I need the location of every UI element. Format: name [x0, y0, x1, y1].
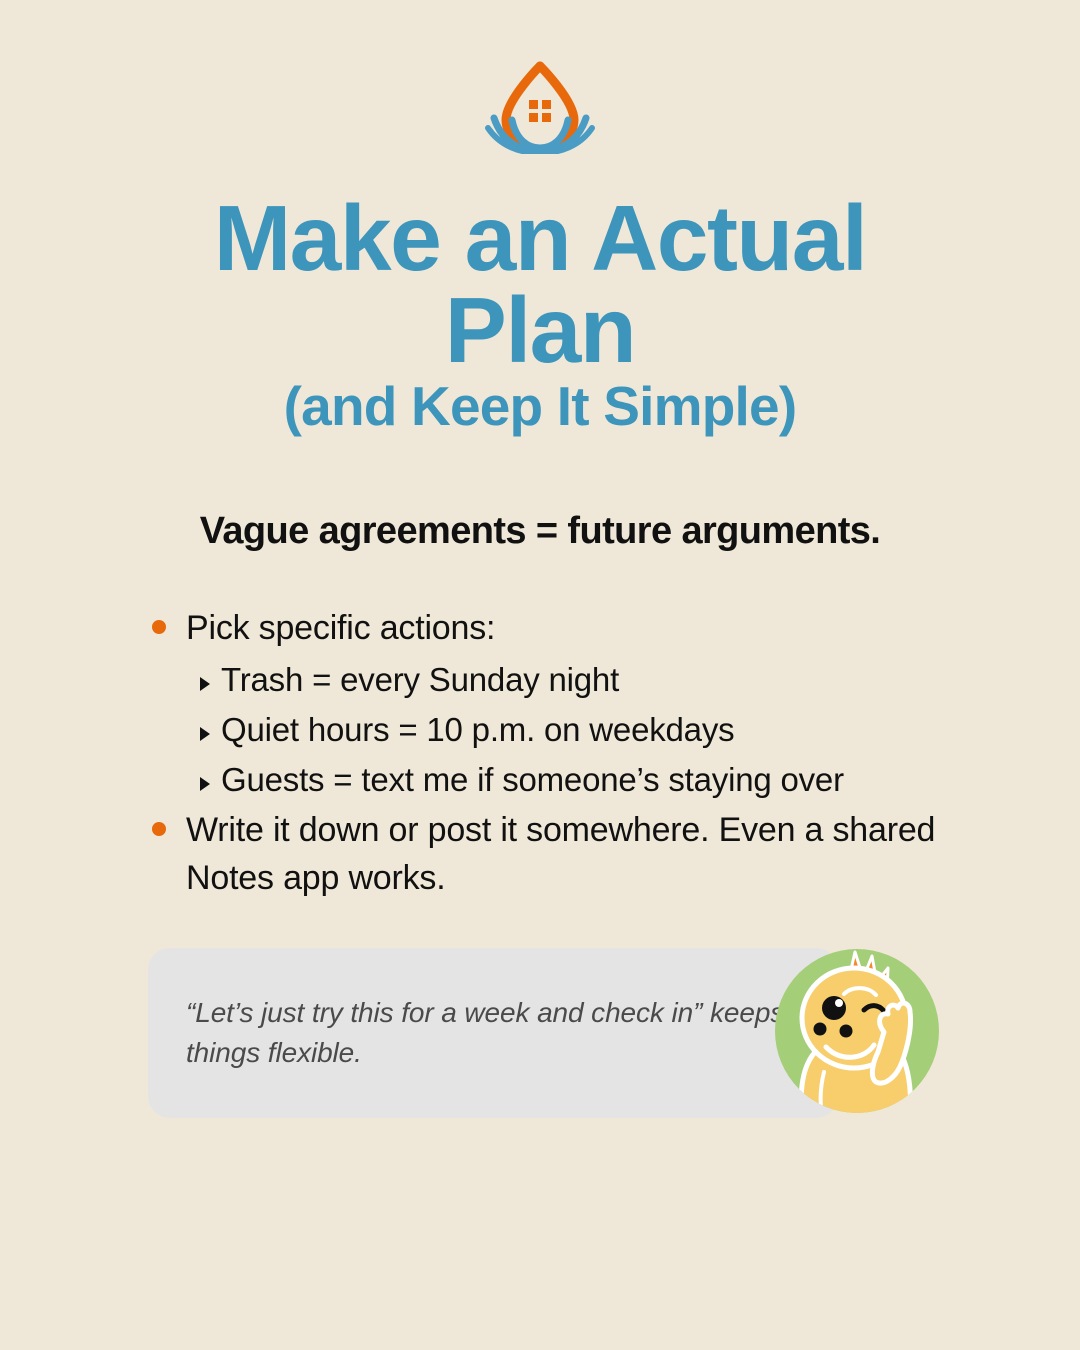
quote-text: “Let’s just try this for a week and chec… [148, 993, 838, 1073]
sub-list: Trash = every Sunday night Quiet hours =… [152, 656, 972, 804]
dinosaur-mascot-winking [772, 946, 942, 1116]
sub-list-item: Quiet hours = 10 p.m. on weekdays [200, 706, 972, 754]
list-item: Write it down or post it somewhere. Even… [152, 806, 972, 903]
list-item-label: Pick specific actions: [186, 604, 495, 652]
sub-list-item: Guests = text me if someone’s staying ov… [200, 756, 972, 804]
list-item: Pick specific actions: Trash = every Sun… [152, 604, 972, 804]
triangle-bullet-icon [200, 727, 210, 741]
quote-callout: “Let’s just try this for a week and chec… [148, 948, 838, 1118]
page-subtitle: (and Keep It Simple) [0, 378, 1080, 436]
heading-block: Make an Actual Plan (and Keep It Simple) [0, 192, 1080, 436]
dinosaur-mascot-icon [772, 946, 942, 1116]
page-title-line2: Plan [0, 284, 1080, 376]
tips-list: Pick specific actions: Trash = every Sun… [152, 604, 972, 906]
brand-logo [0, 58, 1080, 154]
bullet-dot-icon [152, 822, 166, 836]
sub-list-item-label: Trash = every Sunday night [221, 656, 619, 704]
bullet-dot-icon [152, 620, 166, 634]
tagline-text: Vague agreements = future arguments. [0, 510, 1080, 553]
sub-list-item-label: Guests = text me if someone’s staying ov… [221, 756, 844, 804]
sub-list-item-label: Quiet hours = 10 p.m. on weekdays [221, 706, 734, 754]
sub-list-item: Trash = every Sunday night [200, 656, 972, 704]
triangle-bullet-icon [200, 677, 210, 691]
list-item-label: Write it down or post it somewhere. Even… [186, 806, 972, 903]
house-water-logo-icon [476, 58, 604, 154]
page-title-line1: Make an Actual [0, 192, 1080, 284]
triangle-bullet-icon [200, 777, 210, 791]
poster-canvas: Make an Actual Plan (and Keep It Simple)… [0, 0, 1080, 1350]
